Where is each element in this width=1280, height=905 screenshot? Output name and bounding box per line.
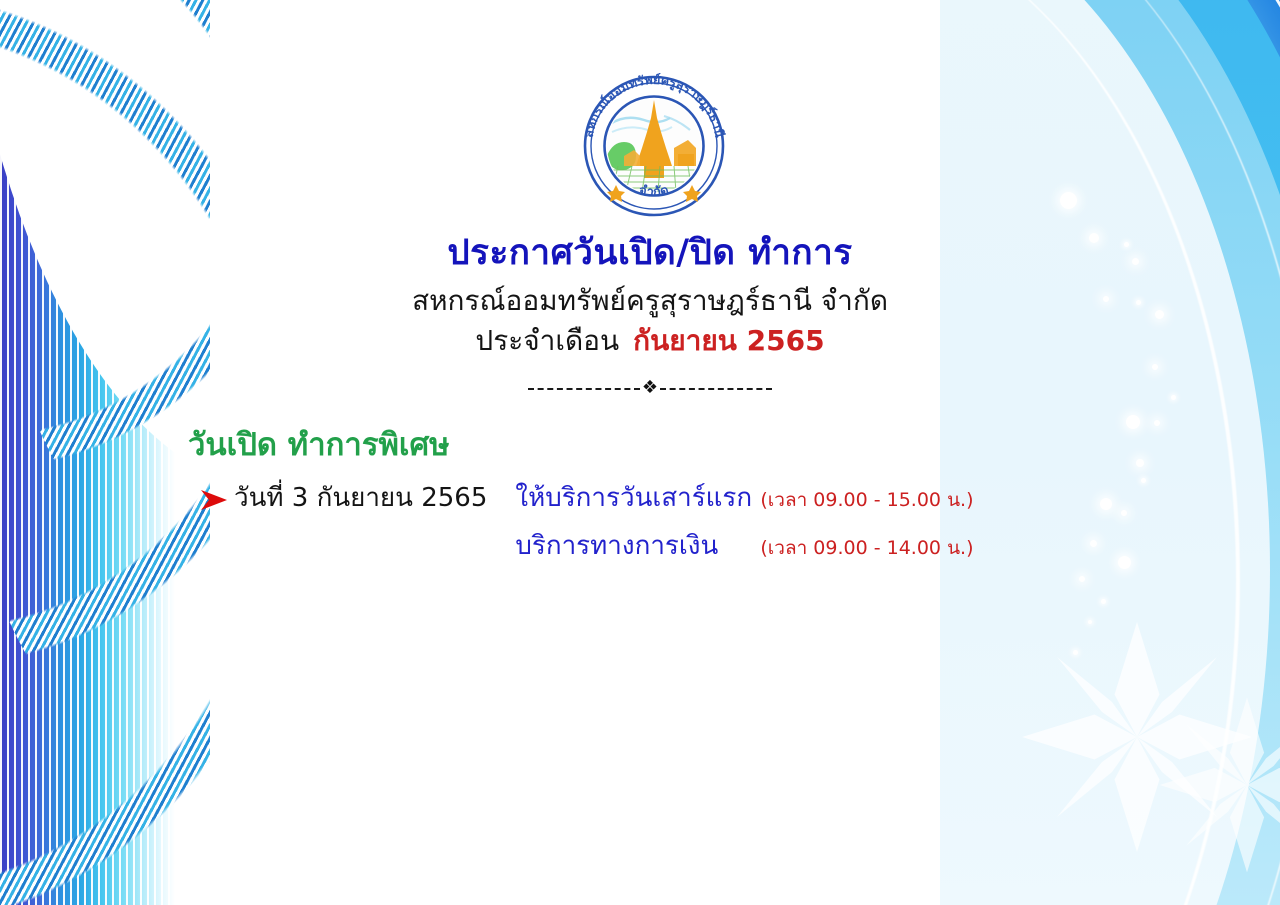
poster-page: สหกรณ์ออมทรัพย์ครูสุราษฎร์ธานี จำกัด ประ… [0,0,1280,905]
diamond-ornament-icon: ❖ [642,379,658,397]
period-value: กันยายน 2565 [633,324,824,357]
section-heading: วันเปิด ทำการพิเศษ [188,419,450,469]
service-list: ให้บริการวันเสาร์แรก (เวลา 09.00 - 15.00… [515,481,973,565]
entry-date: วันที่ 3 กันยายน 2565 [234,481,515,515]
arrow-bullet-icon [200,481,234,511]
divider-dash-left [528,388,640,390]
period-line: ประจำเดือนกันยายน 2565 [150,323,1150,358]
service-item: ให้บริการวันเสาร์แรก (เวลา 09.00 - 15.00… [515,481,973,517]
entry-row: วันที่ 3 กันยายน 2565 ให้บริการวันเสาร์แ… [200,481,974,565]
service-item: บริการทางการเงิน (เวลา 09.00 - 14.00 น.) [515,529,973,565]
divider-dash-right [660,388,772,390]
title-block: ประกาศวันเปิด/ปิด ทำการ สหกรณ์ออมทรัพย์ค… [150,232,1150,358]
page-title: ประกาศวันเปิด/ปิด ทำการ [150,232,1150,276]
organization-name: สหกรณ์ออมทรัพย์ครูสุราษฎร์ธานี จำกัด [150,283,1150,318]
period-label: ประจำเดือน [475,324,619,357]
divider: ❖ [150,380,1150,398]
service-label: บริการทางการเงิน [515,529,758,563]
service-label: ให้บริการวันเสาร์แรก [515,481,758,515]
poster-content: สหกรณ์ออมทรัพย์ครูสุราษฎร์ธานี จำกัด ประ… [0,0,1280,905]
service-time: (เวลา 09.00 - 15.00 น.) [760,483,973,517]
service-time: (เวลา 09.00 - 14.00 น.) [760,531,973,565]
cooperative-seal-logo: สหกรณ์ออมทรัพย์ครูสุราษฎร์ธานี จำกัด [566,62,742,222]
